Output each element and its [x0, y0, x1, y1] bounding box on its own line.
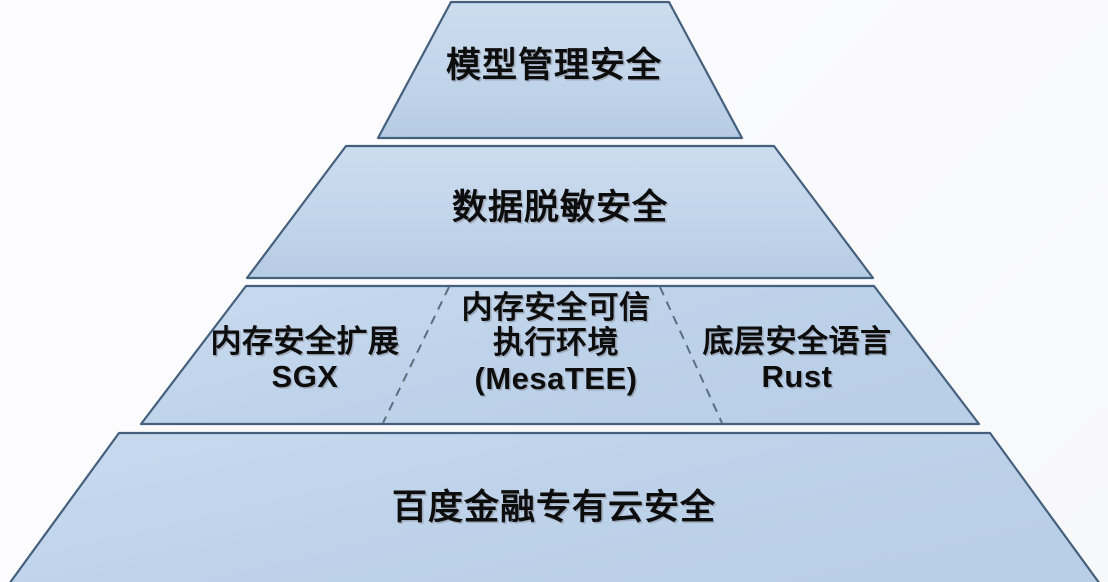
tier-2-shape[interactable]	[247, 146, 873, 278]
pyramid-shapes	[0, 0, 1108, 582]
pyramid-diagram-canvas: 模型管理安全 数据脱敏安全 内存安全扩展 SGX 内存安全可信 执行环境 (Me…	[0, 0, 1108, 582]
tier-1-shape[interactable]	[378, 2, 742, 138]
tier-4-shape[interactable]	[9, 433, 1100, 582]
tier-3-shape[interactable]	[141, 286, 979, 424]
